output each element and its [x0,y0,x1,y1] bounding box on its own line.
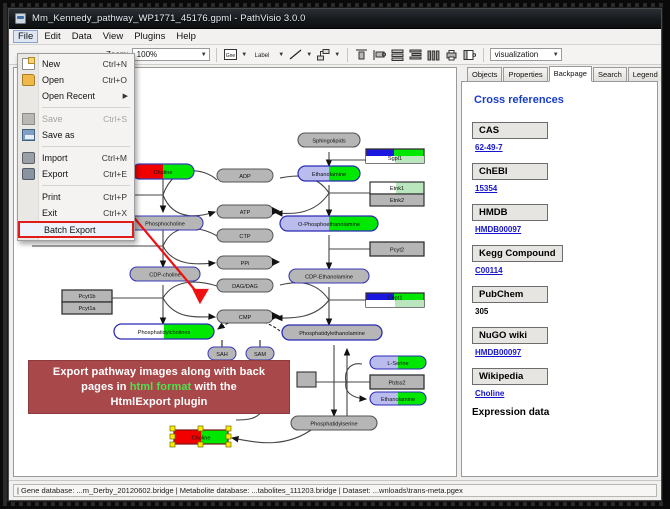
node-phosphatidylcholines: Phosphatidylcholines [114,324,214,339]
menu-item-exit-label: Exit [42,208,103,218]
menu-item-save-as[interactable]: Save as [18,127,134,143]
node-ppi: PPi [217,256,273,269]
tab-backpage[interactable]: Backpage [549,66,592,82]
xref-value-hmdb[interactable]: HMDB00097 [475,225,647,234]
svg-text:Label: Label [255,53,270,59]
node-phosphatidylethanolamine: Phosphatidylethanolamine [282,325,382,340]
datanode-chevron-down-icon[interactable]: ▼ [241,52,248,58]
svg-text:SAH: SAH [216,352,228,358]
expression-data-title: Expression data [472,407,647,418]
xref-label-chebi: ChEBI [472,163,548,180]
columns-tool-icon[interactable] [426,47,441,62]
svg-text:Ptdss2: Ptdss2 [388,381,405,387]
new-document-icon [22,58,35,70]
node-l-serine: L-Serine [370,356,426,369]
menu-item-batch-export[interactable]: Batch Export [18,221,134,238]
align-top-tool-icon[interactable] [354,47,369,62]
annotation-line3: HtmlExport plugin [110,396,207,408]
annotation-line1: Export pathway images along with back [53,366,265,378]
svg-text:CTP: CTP [239,234,250,240]
menu-view[interactable]: View [98,30,128,43]
side-panel-tabs[interactable]: Objects Properties Backpage Search Legen… [461,67,658,82]
svg-text:Pcyt2: Pcyt2 [390,248,404,254]
svg-text:Pcyt1a: Pcyt1a [78,306,96,312]
xref-label-cas: CAS [472,122,548,139]
sidebar-tool-icon[interactable] [462,47,477,62]
export-icon [22,168,35,180]
visualization-chevron-down-icon: ▼ [553,52,559,58]
svg-text:Ethanolamine: Ethanolamine [312,172,346,178]
svg-text:Gne: Gne [225,53,235,59]
xref-group-wikipedia: Wikipedia Choline [472,366,647,398]
svg-text:Phosphocholine: Phosphocholine [145,222,185,228]
node-o-phosphoethanolamine: O-Phosphoethanolamine [280,216,378,231]
node-atp: ATP [217,205,273,218]
xref-value-pubchem: 305 [475,307,647,316]
node-ethanolamine-2: Ethanolamine [370,392,426,405]
pathvisio-application-window: Mm_Kennedy_pathway_WP1771_45176.gpml - P… [8,8,662,501]
menu-item-import[interactable]: Import Ctrl+M [18,150,134,166]
node-adp: ADP [217,169,273,182]
menu-item-save-label: Save [42,114,103,124]
svg-text:Sphingolipids: Sphingolipids [312,139,345,145]
menu-item-open-accel: Ctrl+O [102,75,134,85]
svg-text:Choline: Choline [154,170,173,176]
menu-item-new-accel: Ctrl+N [103,59,134,69]
xref-group-pubchem: PubChem 305 [472,284,647,316]
node-cdp-choline: CDP-choline [130,267,200,281]
xref-value-cas[interactable]: 62-49-7 [475,143,647,152]
svg-text:Cept1: Cept1 [388,296,403,302]
node-ptdss2: Ptdss2 [370,375,424,389]
tab-search[interactable]: Search [593,67,627,81]
side-panel: Objects Properties Backpage Search Legen… [461,67,658,477]
cross-references-title: Cross references [474,94,647,106]
print-tool-icon[interactable] [444,47,459,62]
svg-text:ADP: ADP [239,174,251,180]
file-menu-dropdown[interactable]: New Ctrl+N Open Ctrl+O Open Recent ▶ Sav… [17,53,135,241]
align-left-tool-icon[interactable] [372,47,387,62]
menu-item-export-accel: Ctrl+E [103,169,134,179]
node-cmp: CMP [217,310,273,323]
datanode-tool-icon[interactable]: Gne [223,47,238,62]
svg-text:DAG/DAG: DAG/DAG [232,284,258,290]
menu-plugins[interactable]: Plugins [129,30,170,43]
toolbar-separator [216,48,217,62]
label-chevron-down-icon[interactable]: ▼ [278,52,285,58]
distribute-tool-icon[interactable] [408,47,423,62]
menu-file[interactable]: File [13,30,38,43]
node-pcyt1a: Pcyt1a [62,302,112,314]
zoom-value: 100% [137,50,157,59]
menu-item-print-accel: Ctrl+P [103,192,134,202]
xref-value-wikipedia[interactable]: Choline [475,389,647,398]
node-sgpl1: Sgpl1 [366,149,424,163]
menu-item-export[interactable]: Export Ctrl+E [18,166,134,182]
xref-group-cas: CAS 62-49-7 [472,120,647,152]
svg-text:Phosphatidylethanolamine: Phosphatidylethanolamine [299,331,365,337]
menu-item-new[interactable]: New Ctrl+N [18,56,134,72]
interaction-chevron-down-icon[interactable]: ▼ [334,52,341,58]
save-as-icon [22,129,35,141]
svg-text:L-Serine: L-Serine [387,361,408,367]
node-cept1: Cept1 [366,293,424,307]
menu-help[interactable]: Help [171,30,201,43]
menu-data[interactable]: Data [67,30,97,43]
menu-item-import-accel: Ctrl+M [102,153,134,163]
xref-group-nugo: NuGO wiki HMDB00097 [472,325,647,357]
tab-legend[interactable]: Legend [628,67,662,81]
line-chevron-down-icon[interactable]: ▼ [306,52,313,58]
tab-properties[interactable]: Properties [503,67,547,81]
node-cdp-ethanolamine: CDP-Ethanolamine [289,269,369,283]
toolbar-separator-3 [483,48,484,62]
node-ethanolamine-1: Ethanolamine [298,166,360,181]
svg-text:ATP: ATP [240,210,251,216]
svg-text:Sgpl1: Sgpl1 [388,156,402,162]
node-etnk1: Etnk1 [370,182,424,194]
svg-text:SAM: SAM [254,352,266,358]
xref-value-nugo[interactable]: HMDB00097 [475,348,647,357]
window-title: Mm_Kennedy_pathway_WP1771_45176.gpml - P… [32,13,306,24]
node-pcyt1b: Pcyt1b [62,290,112,302]
node-sam: SAM [246,347,274,360]
svg-text:Phosphatidylserine: Phosphatidylserine [310,422,357,428]
menu-separator-1 [42,107,130,108]
node-choline-selected: Choline [170,426,231,447]
menu-separator-3 [42,185,130,186]
node-dagdag: DAG/DAG [217,279,273,292]
annotation-highlight: html format [130,381,192,393]
save-disk-icon [22,113,35,125]
xref-label-nugo: NuGO wiki [472,327,548,344]
node-sphingolipids: Sphingolipids [298,133,360,147]
node-choline-top: Choline [132,164,194,179]
menu-item-exit-accel: Ctrl+X [103,208,134,218]
svg-text:Etnk1: Etnk1 [390,186,404,192]
node-phosphatidylserine: Phosphatidylserine [291,416,377,430]
annotation-callout: Export pathway images along with back pa… [28,360,290,414]
xref-label-kegg: Kegg Compound [472,245,563,262]
menu-item-open-label: Open [42,75,102,85]
svg-text:CMP: CMP [239,315,252,321]
xref-group-hmdb: HMDB HMDB00097 [472,202,647,234]
menu-item-open-recent-label: Open Recent [42,91,123,101]
interaction-tool-icon[interactable] [316,47,331,62]
node-pcyt2: Pcyt2 [370,242,424,256]
stack-tool-icon[interactable] [390,47,405,62]
svg-text:Etnk2: Etnk2 [390,198,404,204]
svg-text:Phosphatidylcholines: Phosphatidylcholines [138,330,191,336]
chevron-right-icon: ▶ [123,92,134,100]
toolbar-separator-2 [347,48,348,62]
menu-item-print-label: Print [42,192,103,202]
node-sah: SAH [208,347,236,360]
chevron-down-icon: ▼ [201,52,207,58]
menu-item-save-accel: Ctrl+S [103,114,134,124]
xref-label-wikipedia: Wikipedia [472,368,548,385]
annotation-line2-post: with the [191,381,237,393]
backpage-content[interactable]: Cross references CAS 62-49-7 ChEBI 15354… [461,82,658,477]
svg-text:Pcyt1b: Pcyt1b [78,294,95,300]
menu-item-import-label: Import [42,153,102,163]
xref-group-kegg: Kegg Compound C00114 [472,243,647,275]
open-folder-icon [22,74,35,86]
node-etnk2: Etnk2 [370,194,424,206]
visualization-combo[interactable]: visualization ▼ [490,48,562,61]
menu-item-save: Save Ctrl+S [18,111,134,127]
menu-item-exit[interactable]: Exit Ctrl+X [18,205,134,221]
visualization-value: visualization [495,50,539,59]
status-bar: | Gene database: ...m_Derby_20120602.bri… [9,480,661,500]
svg-text:CDP-choline: CDP-choline [149,273,180,279]
menu-item-open-recent[interactable]: Open Recent ▶ [18,88,134,104]
xref-label-pubchem: PubChem [472,286,548,303]
annotation-line2-pre: pages in [81,381,130,393]
menu-item-new-label: New [42,59,103,69]
menu-item-export-label: Export [42,169,103,179]
label-tool-icon[interactable]: Label [251,47,275,62]
menu-edit[interactable]: Edit [39,30,65,43]
svg-text:O-Phosphoethanolamine: O-Phosphoethanolamine [298,222,360,228]
menu-separator-2 [42,146,130,147]
menu-item-save-as-label: Save as [42,130,127,140]
menu-bar[interactable]: File Edit Data View Plugins Help [9,29,661,45]
node-ctp: CTP [217,229,273,242]
tab-objects[interactable]: Objects [467,67,502,81]
zoom-combo[interactable]: 100% ▼ [132,48,210,61]
menu-item-print[interactable]: Print Ctrl+P [18,189,134,205]
svg-text:Choline: Choline [192,436,211,442]
svg-text:PPi: PPi [241,261,250,267]
menu-item-batch-export-label: Batch Export [44,225,132,235]
app-icon [15,13,26,24]
svg-text:CDP-Ethanolamine: CDP-Ethanolamine [305,275,353,281]
xref-label-hmdb: HMDB [472,204,548,221]
desktop-background: Mm_Kennedy_pathway_WP1771_45176.gpml - P… [0,0,670,509]
xref-value-kegg[interactable]: C00114 [475,266,647,275]
status-text: | Gene database: ...m_Derby_20120602.bri… [13,484,657,497]
xref-value-chebi[interactable]: 15354 [475,184,647,193]
menu-item-open[interactable]: Open Ctrl+O [18,72,134,88]
svg-text:Ethanolamine: Ethanolamine [381,397,415,403]
title-bar: Mm_Kennedy_pathway_WP1771_45176.gpml - P… [9,9,661,29]
annotation-text: Export pathway images along with back pa… [53,365,265,410]
line-tool-icon[interactable] [288,47,303,62]
xref-group-chebi: ChEBI 15354 [472,161,647,193]
import-icon [22,152,35,164]
